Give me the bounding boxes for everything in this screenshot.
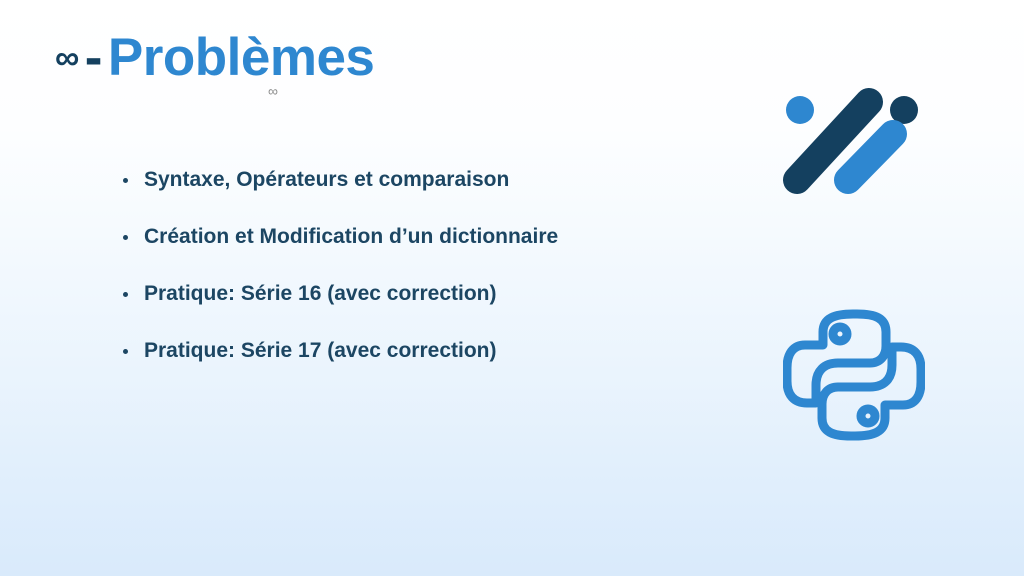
bullet-dot-icon xyxy=(123,178,128,183)
title-infinity-symbol: ∞ xyxy=(55,39,79,77)
list-item: Création et Modification d’un dictionnai… xyxy=(120,217,760,274)
bullet-list: Syntaxe, Opérateurs et comparaison Créat… xyxy=(120,160,760,388)
bullet-dot-icon xyxy=(123,292,128,297)
slide-canvas: ∞-Problèmes ∞ Syntaxe, Opérateurs et com… xyxy=(0,0,1024,576)
list-item-label: Pratique: Série 16 (avec correction) xyxy=(144,282,496,305)
bullet-dot-icon xyxy=(123,235,128,240)
title-text: Problèmes xyxy=(108,28,375,87)
list-item-label: Création et Modification d’un dictionnai… xyxy=(144,225,558,248)
python-logo-icon xyxy=(783,305,925,445)
list-item: Syntaxe, Opérateurs et comparaison xyxy=(120,160,760,217)
bullet-dot-icon xyxy=(123,349,128,354)
list-item: Pratique: Série 16 (avec correction) xyxy=(120,274,760,331)
page-title: ∞-Problèmes xyxy=(55,22,755,94)
list-item-label: Syntaxe, Opérateurs et comparaison xyxy=(144,168,509,191)
brand-slashes-logo-icon xyxy=(780,84,930,199)
list-item-label: Pratique: Série 17 (avec correction) xyxy=(144,339,496,362)
title-dash: - xyxy=(85,28,102,87)
list-item: Pratique: Série 17 (avec correction) xyxy=(120,331,760,388)
subtitle-infinity-symbol: ∞ xyxy=(268,84,278,98)
